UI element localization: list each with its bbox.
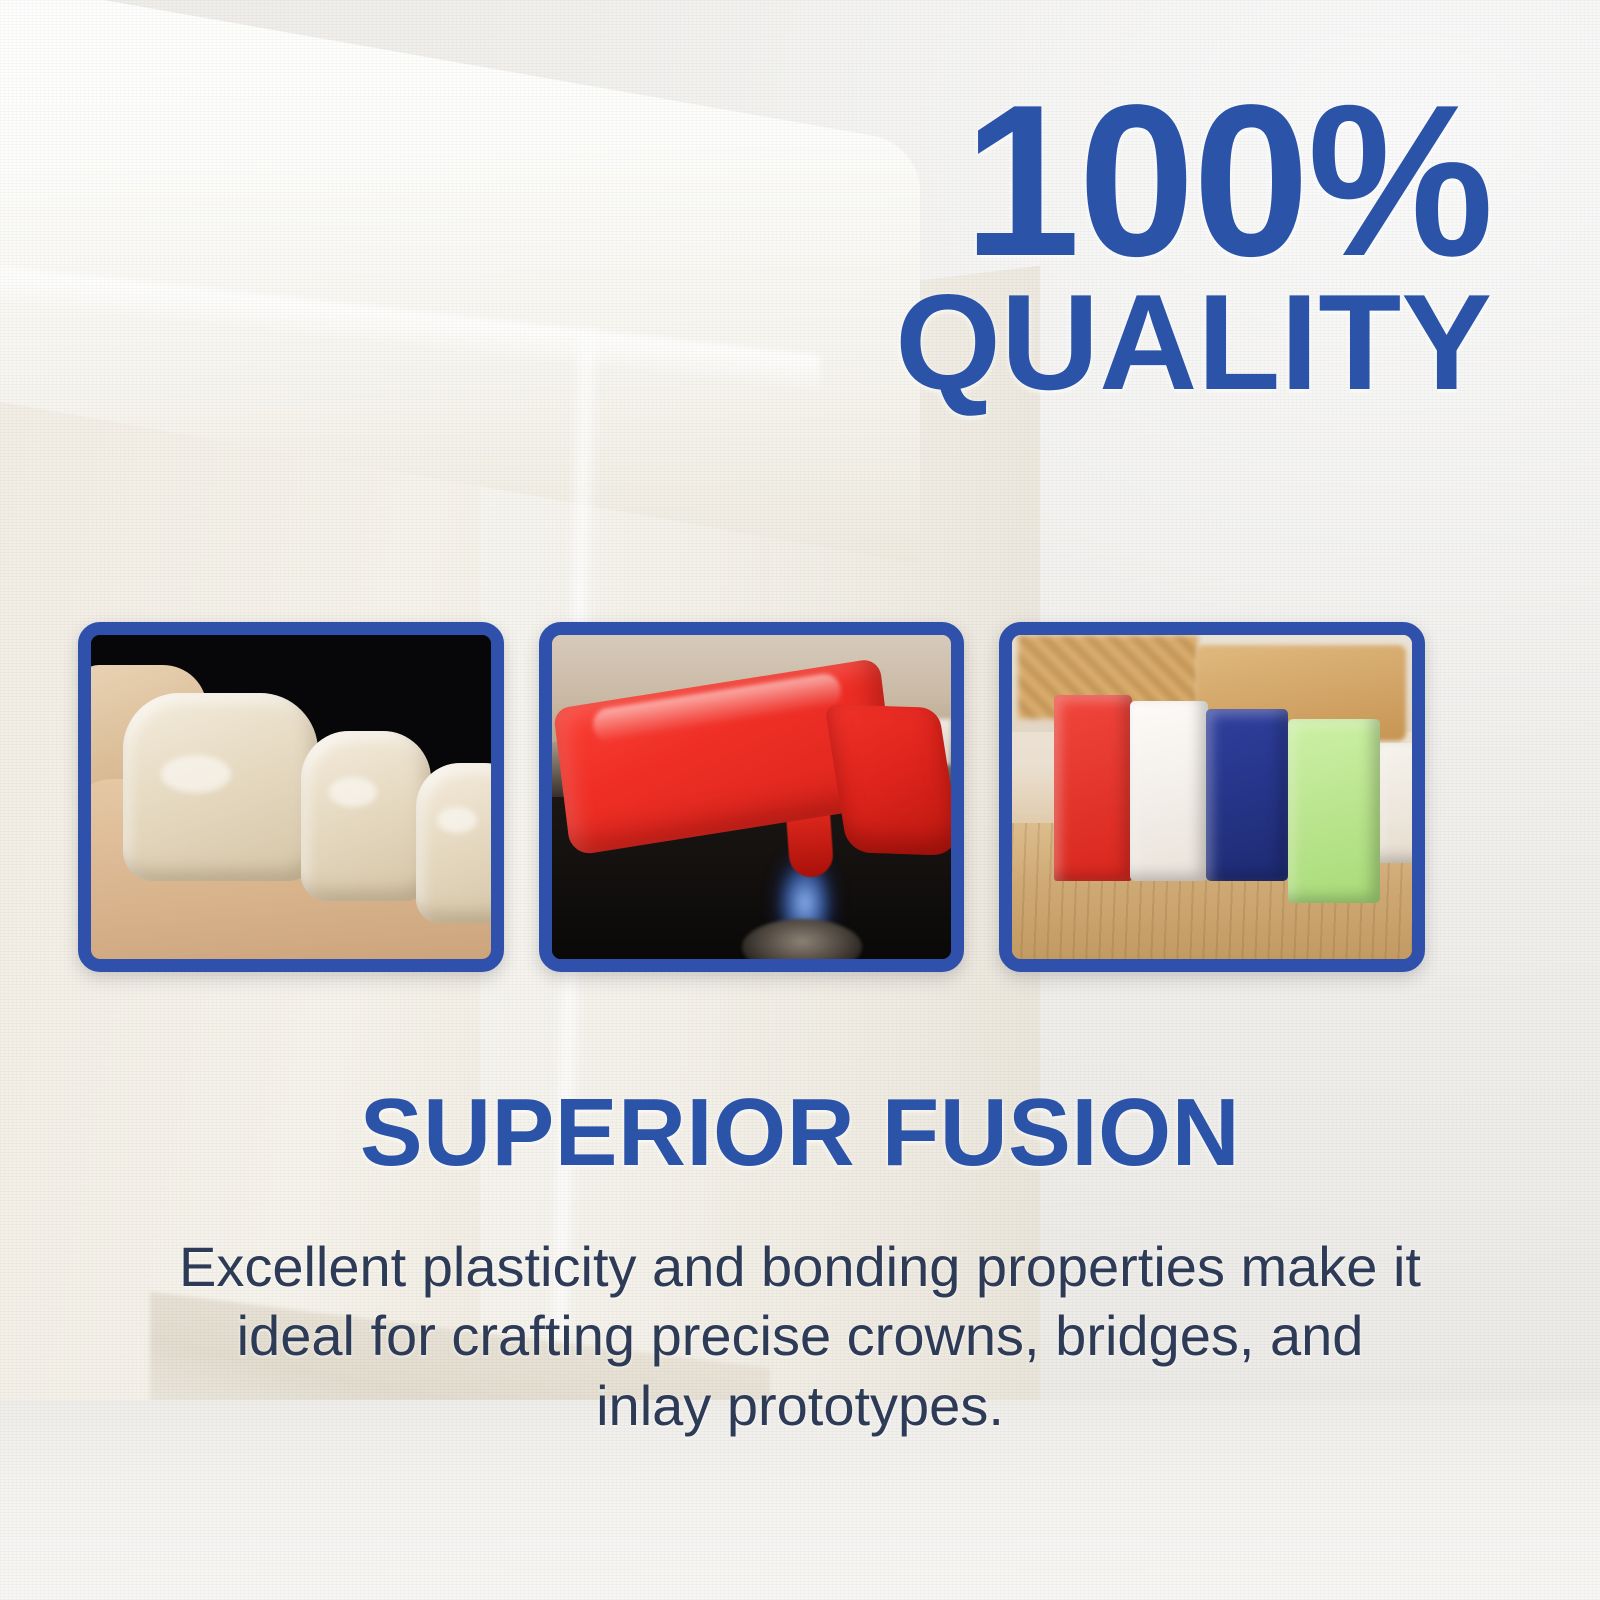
- headline-quality: QUALITY: [895, 280, 1492, 405]
- wax-bar-red: [1054, 695, 1132, 881]
- feature-title: SUPERIOR FUSION: [16, 1078, 1584, 1188]
- crown-highlight-1: [161, 755, 231, 793]
- headline-percent: 100%: [913, 88, 1492, 274]
- wax-bar-pale: [1378, 743, 1412, 863]
- crown-highlight-3: [437, 807, 477, 833]
- feature-description-line-2: ideal for crafting precise crowns, bridg…: [110, 1301, 1490, 1370]
- headline-block: 100% QUALITY: [895, 88, 1492, 405]
- feature-description-line-3: inlay prototypes.: [110, 1371, 1490, 1440]
- dental-crowns-photo: [91, 635, 491, 959]
- crown-molar-2: [301, 731, 431, 901]
- wax-bar-white: [1130, 701, 1208, 881]
- product-marketing-image: 100% QUALITY: [0, 0, 1600, 1600]
- feature-description-line-1: Excellent plasticity and bonding propert…: [110, 1232, 1490, 1301]
- crown-molar-3: [416, 763, 491, 923]
- wax-bar-green: [1288, 719, 1380, 903]
- crown-highlight-2: [329, 777, 377, 807]
- wax-melting-photo: [552, 635, 952, 959]
- feature-gallery: [78, 622, 1425, 972]
- feature-description: Excellent plasticity and bonding propert…: [110, 1232, 1490, 1440]
- colored-wax-photo: [1012, 635, 1412, 959]
- gallery-item-dental-crowns[interactable]: [78, 622, 504, 972]
- gallery-item-wax-over-flame[interactable]: [539, 622, 965, 972]
- wax-bar-blue: [1206, 709, 1288, 881]
- gallery-item-color-wax-blocks[interactable]: [999, 622, 1425, 972]
